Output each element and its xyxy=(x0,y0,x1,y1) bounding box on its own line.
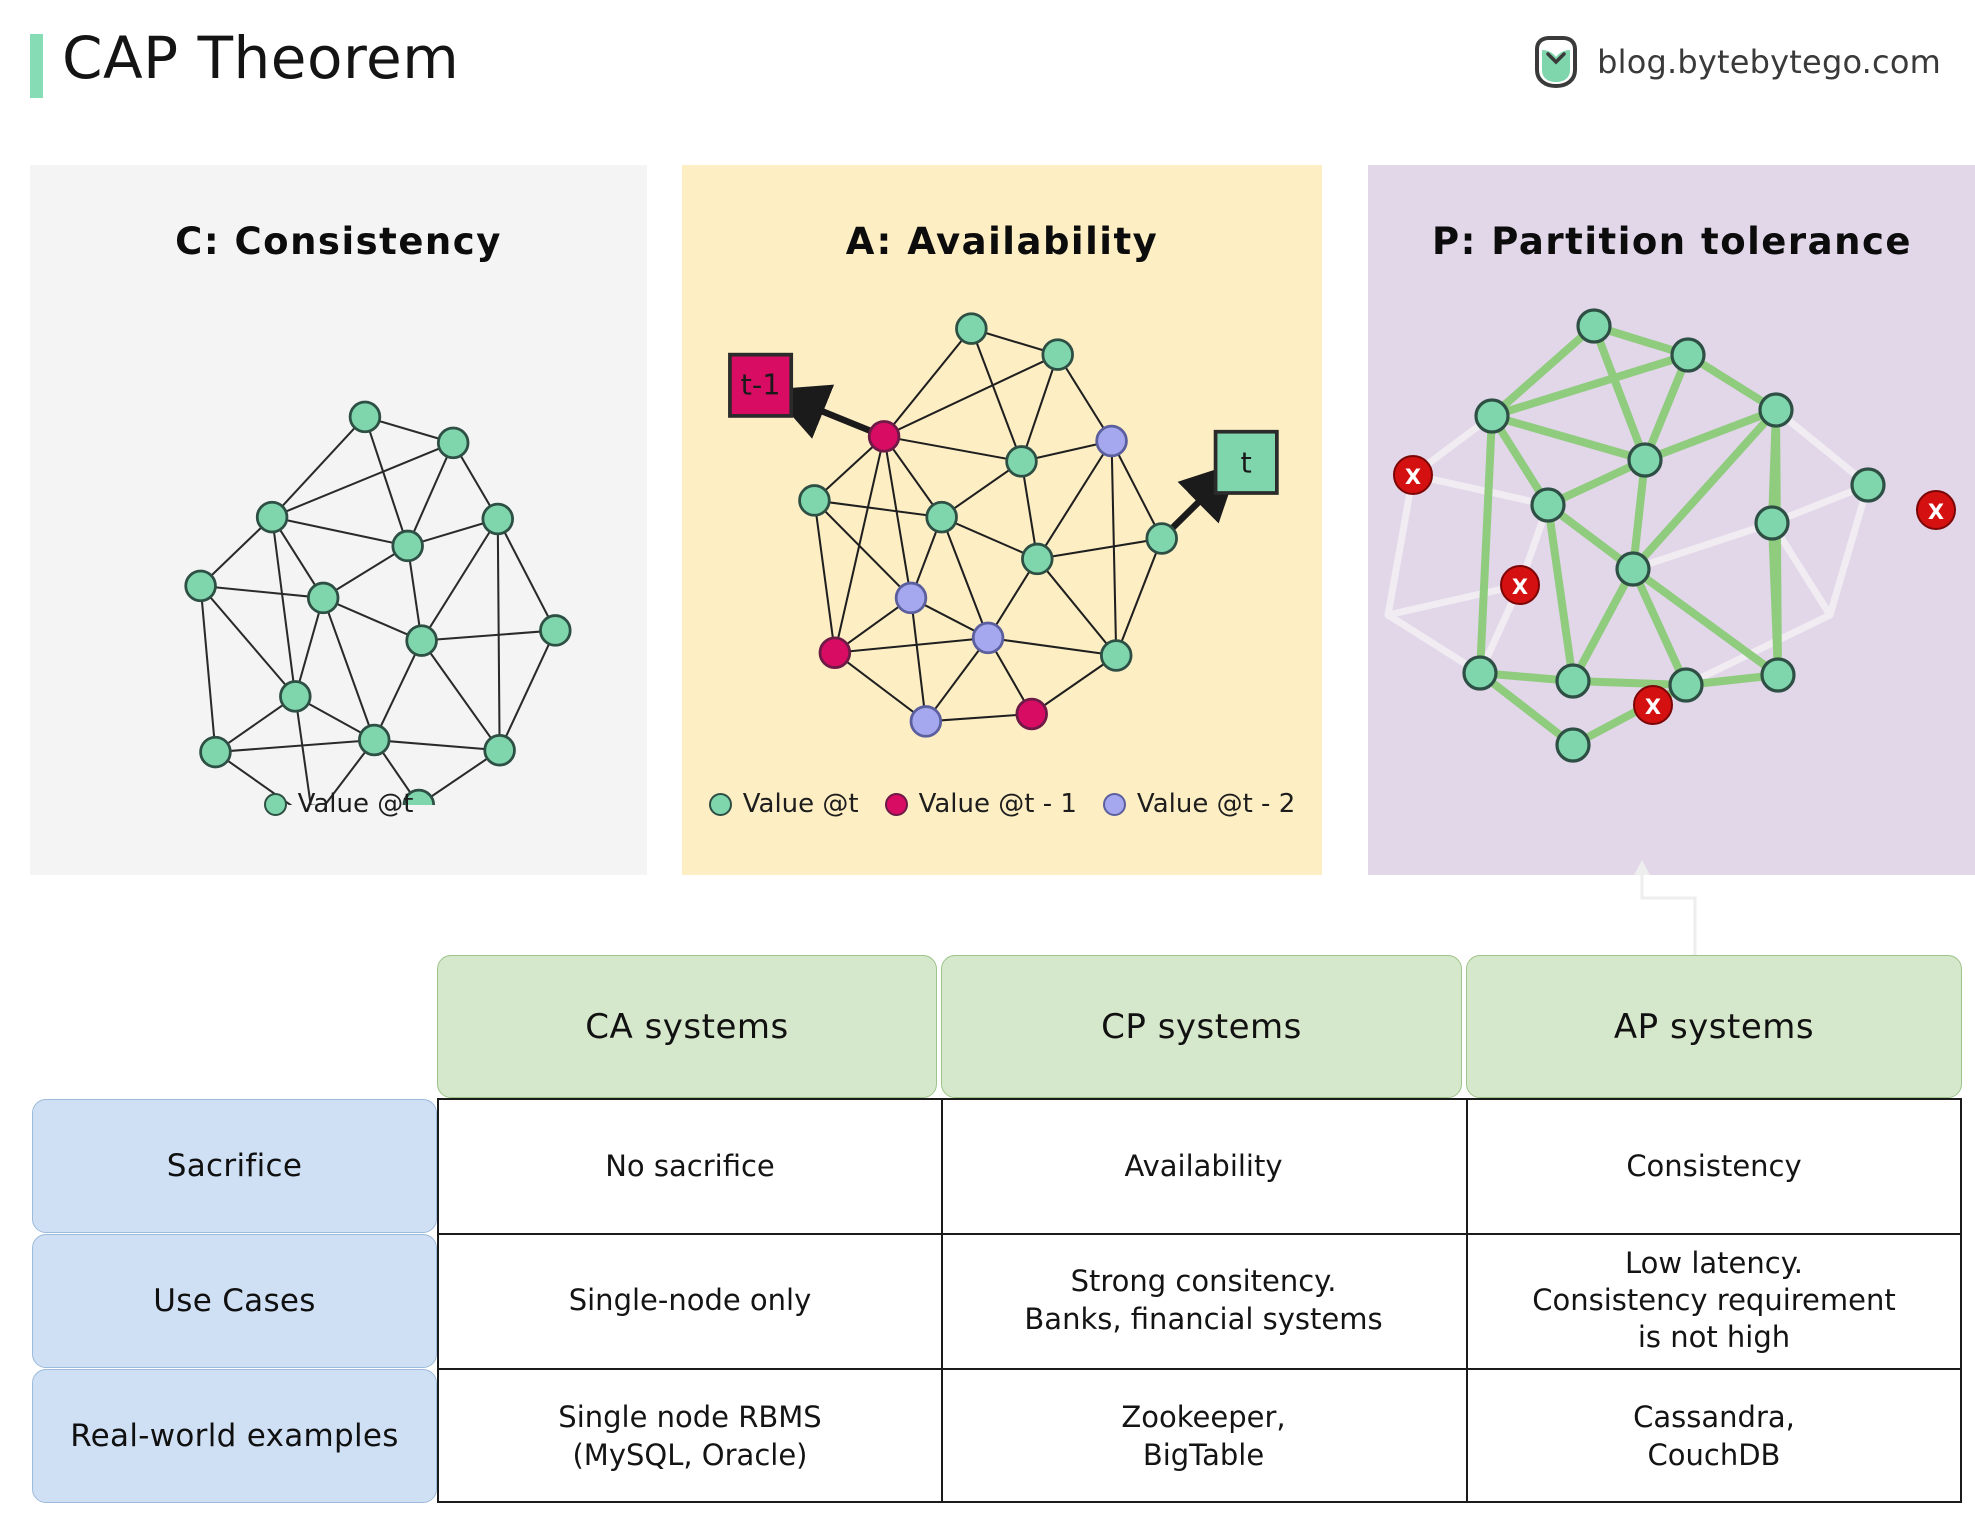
tag-t-minus-1-label: t-1 xyxy=(741,368,781,402)
consistency-legend: Value @t xyxy=(30,789,647,819)
row-header-label: Real-world examples xyxy=(70,1418,399,1454)
svg-text:X: X xyxy=(1405,465,1421,489)
cell-text: Consistency xyxy=(1626,1148,1801,1185)
cell-text: Cassandra,CouchDB xyxy=(1633,1399,1795,1473)
title-accent-bar xyxy=(30,34,43,98)
cell-text: Single node RBMS(MySQL, Oracle) xyxy=(558,1399,821,1473)
availability-legend: Value @t Value @t - 1 Value @t - 2 xyxy=(682,789,1322,819)
panel-availability-heading: A: Availability xyxy=(682,220,1322,263)
table-cell: Single-node only xyxy=(439,1233,941,1368)
table-cell: Single node RBMS(MySQL, Oracle) xyxy=(439,1368,941,1505)
broken-link-x-icon: X xyxy=(1917,491,1955,529)
column-header-label: CP systems xyxy=(1101,1007,1302,1047)
row-header-label: Use Cases xyxy=(153,1283,315,1319)
consistency-network-graph xyxy=(30,285,647,805)
cell-text: Strong consitency.Banks, financial syste… xyxy=(1024,1263,1382,1337)
brand: blog.bytebytego.com xyxy=(1531,36,1941,88)
table-cell: Cassandra,CouchDB xyxy=(1466,1368,1962,1505)
cell-text: Low latency.Consistency requirementis no… xyxy=(1532,1245,1896,1356)
panel-partition-tolerance: P: Partition tolerance xyxy=(1368,165,1975,875)
table-cell: Zookeeper,BigTable xyxy=(941,1368,1466,1505)
cell-text: Availability xyxy=(1124,1148,1282,1185)
legend-dot-value-at-t xyxy=(264,793,287,816)
legend-dot-value-at-t xyxy=(709,793,732,816)
panel-consistency-heading: C: Consistency xyxy=(30,220,647,263)
panel-partition-heading: P: Partition tolerance xyxy=(1368,220,1975,263)
table-grid: No sacrifice Availability Consistency Si… xyxy=(437,1098,1962,1503)
legend-item: Value @t - 2 xyxy=(1103,789,1295,819)
cell-text: Single-node only xyxy=(569,1282,812,1319)
page-title: CAP Theorem xyxy=(62,24,459,92)
table-cell: Low latency.Consistency requirementis no… xyxy=(1466,1233,1962,1368)
partition-network-graph: X X X X xyxy=(1368,285,1975,805)
panel-consistency: C: Consistency xyxy=(30,165,647,875)
legend-dot-value-at-t-minus-2 xyxy=(1103,793,1126,816)
svg-text:X: X xyxy=(1512,575,1528,599)
legend-label: Value @t - 1 xyxy=(919,789,1077,819)
svg-text:X: X xyxy=(1645,695,1661,719)
row-header-label: Sacrifice xyxy=(167,1148,302,1184)
legend-label: Value @t xyxy=(743,789,859,819)
broken-link-x-icon: X xyxy=(1634,686,1672,724)
broken-link-x-icon: X xyxy=(1501,566,1539,604)
legend-label: Value @t xyxy=(298,789,414,819)
write-t-minus-1-arrow xyxy=(781,395,884,437)
table-row-header-sacrifice: Sacrifice xyxy=(32,1099,437,1233)
bytebytego-logo-icon xyxy=(1531,36,1581,88)
panel-availability: A: Availability xyxy=(682,165,1322,875)
comparison-table: CA systems CP systems AP systems Sacrifi… xyxy=(0,955,1975,1515)
column-header-label: CA systems xyxy=(585,1007,788,1047)
legend-label: Value @t - 2 xyxy=(1137,789,1295,819)
page-header: CAP Theorem blog.bytebytego.com xyxy=(0,0,1975,125)
legend-item: Value @t xyxy=(264,789,414,819)
table-row-header-use-cases: Use Cases xyxy=(32,1234,437,1368)
svg-text:X: X xyxy=(1928,500,1944,524)
legend-dot-value-at-t-minus-1 xyxy=(885,793,908,816)
table-column-header-ap: AP systems xyxy=(1466,955,1962,1098)
table-row-header-real-world-examples: Real-world examples xyxy=(32,1369,437,1503)
tag-t-label: t xyxy=(1241,446,1252,480)
table-column-header-ca: CA systems xyxy=(437,955,937,1098)
table-cell: Availability xyxy=(941,1100,1466,1233)
table-cell: No sacrifice xyxy=(439,1100,941,1233)
legend-item: Value @t xyxy=(709,789,859,819)
cell-text: No sacrifice xyxy=(605,1148,775,1185)
legend-item: Value @t - 1 xyxy=(885,789,1077,819)
brand-label: blog.bytebytego.com xyxy=(1597,43,1941,81)
broken-link-x-icon: X xyxy=(1394,456,1432,494)
availability-network-graph: t-1 t xyxy=(682,285,1322,805)
table-cell: Strong consitency.Banks, financial syste… xyxy=(941,1233,1466,1368)
column-header-label: AP systems xyxy=(1614,1007,1814,1047)
cell-text: Zookeeper,BigTable xyxy=(1121,1399,1285,1473)
table-cell: Consistency xyxy=(1466,1100,1962,1233)
table-column-header-cp: CP systems xyxy=(941,955,1462,1098)
